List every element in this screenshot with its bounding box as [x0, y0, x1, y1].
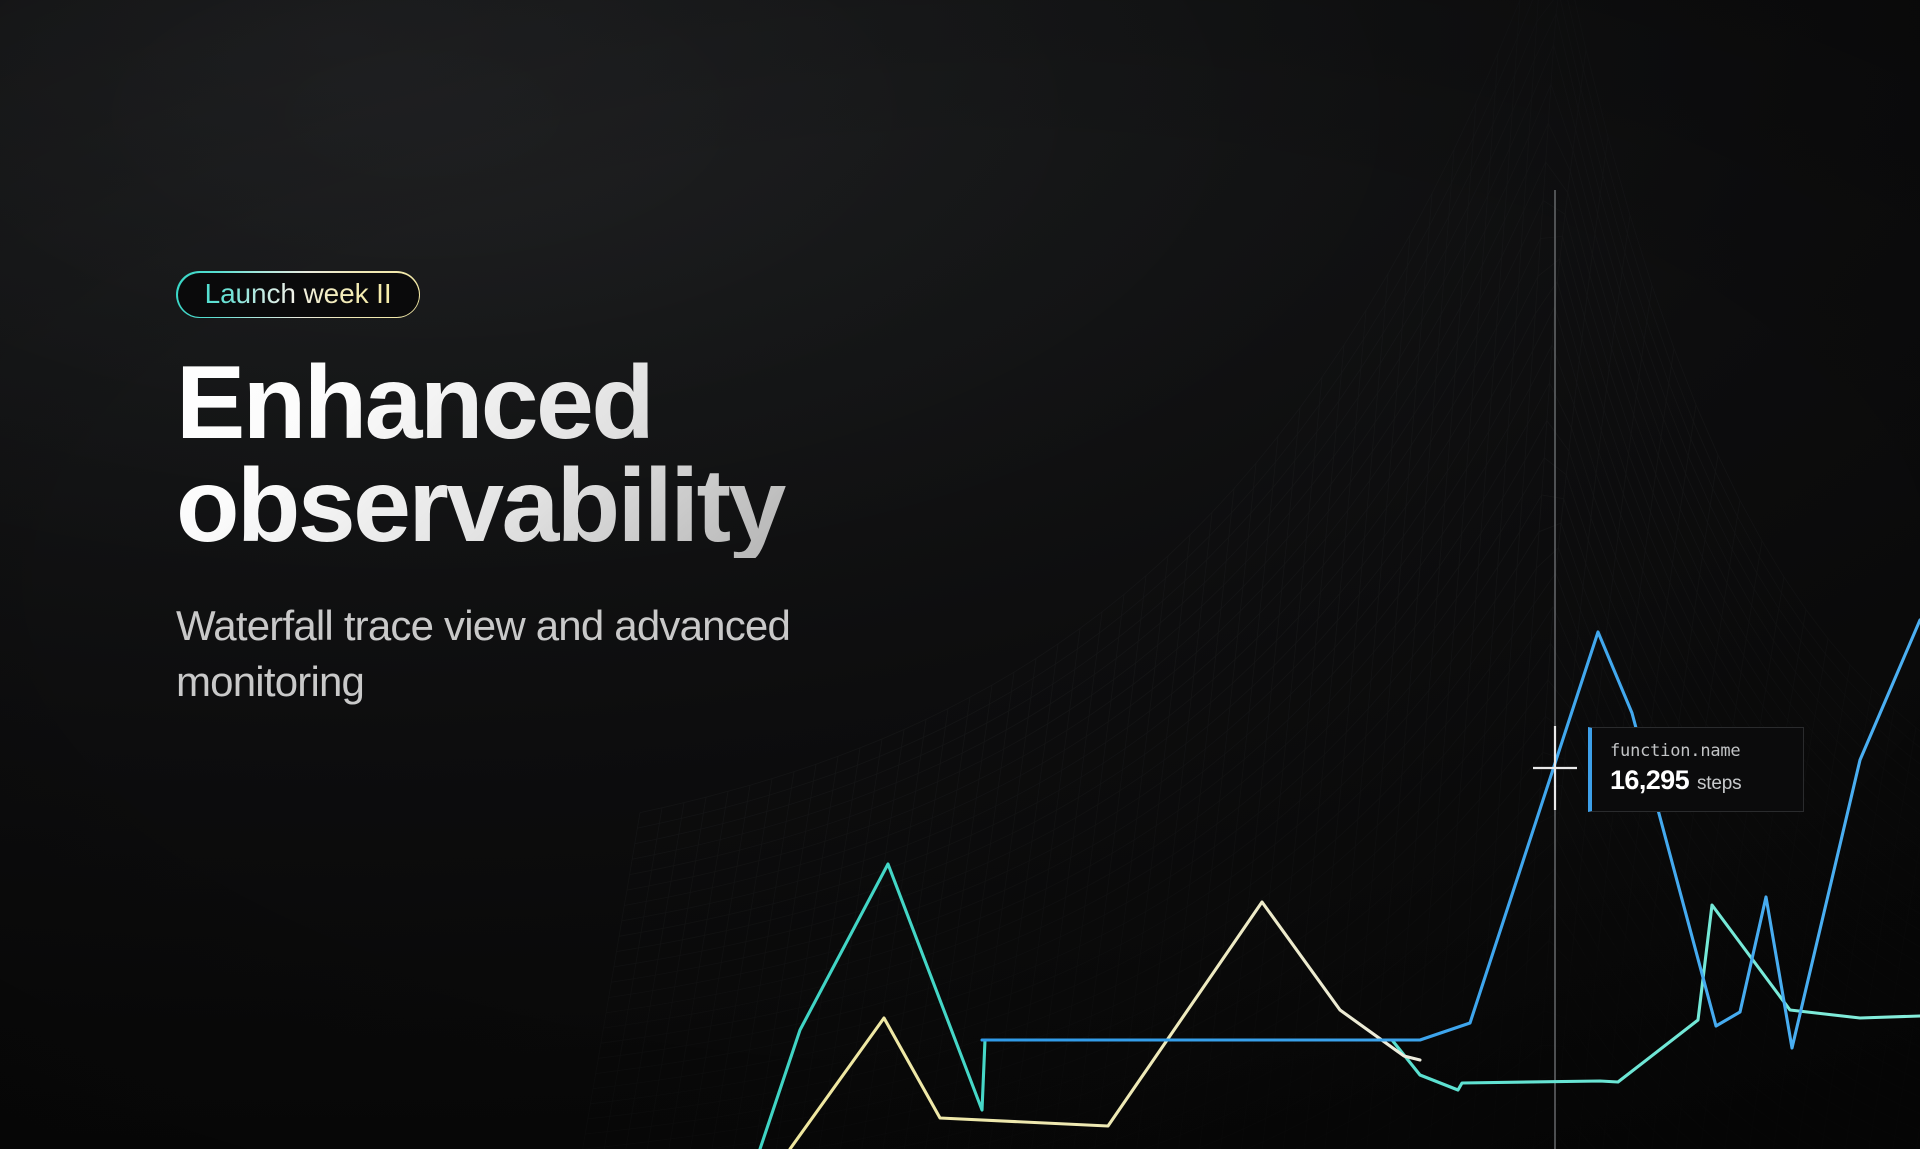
launch-week-badge-inner: Launch week II: [178, 273, 419, 317]
tooltip-value: 16,295: [1610, 765, 1689, 796]
mesh-gridline: [562, 905, 1920, 1149]
mesh-gridline: [583, 643, 1920, 1149]
mesh-gridline: [1092, 512, 1212, 1149]
mesh-gridline: [1488, 137, 1608, 1149]
mesh-gridline: [554, 1011, 1920, 1149]
mesh-gridline: [608, 791, 728, 1149]
mesh-gridline: [982, 612, 1102, 1149]
mesh-gridline: [1334, 150, 1454, 1149]
mesh-gridline: [894, 672, 1014, 1149]
tooltip-metric-row: 16,295 steps: [1610, 765, 1785, 796]
mesh-gridline: [1180, 408, 1300, 1149]
mesh-gridline: [1708, 639, 1828, 1149]
mesh-gridline: [696, 764, 816, 1149]
mesh-gridline: [850, 697, 970, 1149]
mesh-gridline: [1378, 53, 1498, 1149]
mesh-gridline: [1356, 103, 1476, 1149]
mesh-gridline: [520, 813, 640, 1149]
mesh-gridline: [557, 976, 1920, 1149]
mesh-gridline: [542, 808, 662, 1149]
mesh-gridline: [1686, 610, 1806, 1149]
mesh-gridline: [1312, 194, 1432, 1149]
mesh-gridline: [938, 644, 1058, 1149]
mesh-gridline: [1466, 50, 1586, 1149]
mesh-gridline: [551, 1045, 1920, 1149]
mesh-gridline: [544, 1134, 1920, 1149]
mesh-gridline: [1884, 785, 1920, 1149]
mesh-gridline: [630, 785, 750, 1149]
mesh-gridline: [1136, 463, 1256, 1149]
mesh-gridline: [652, 779, 772, 1149]
mesh-gridline: [806, 719, 926, 1149]
mesh-gridline: [1114, 489, 1234, 1149]
crosshair-marker: [1533, 726, 1577, 810]
mesh-gridline: [1158, 436, 1278, 1149]
mesh-gridline: [1224, 345, 1344, 1149]
mesh-gridline: [762, 739, 882, 1149]
mesh-gridline: [1796, 728, 1916, 1149]
mesh-gridline: [570, 812, 1920, 1149]
mesh-gridline: [1532, 286, 1652, 1149]
mesh-gridline: [1642, 541, 1762, 1149]
chart-line-blue: [982, 620, 1920, 1048]
launch-week-hero: Launch week II Enhanced observability Wa…: [0, 0, 1920, 1149]
mesh-gridline: [674, 772, 794, 1149]
mesh-gridline: [872, 685, 992, 1149]
mesh-gridline: [916, 659, 1036, 1149]
mesh-gridline: [1400, 0, 1520, 1149]
mesh-gridline: [1202, 377, 1322, 1149]
mesh-gridline: [1026, 576, 1146, 1149]
mesh-gridline: [559, 941, 1920, 1149]
mesh-gridline: [1510, 216, 1630, 1149]
mesh-gridline: [1004, 594, 1124, 1149]
mesh-gridline: [1444, 0, 1564, 1149]
mesh-gridline: [1620, 500, 1740, 1149]
launch-week-badge[interactable]: Launch week II: [176, 271, 420, 318]
mesh-gridline: [1246, 310, 1366, 1149]
mesh-gridline: [1906, 796, 1920, 1149]
chart-line-cream: [790, 902, 1420, 1149]
hero-content: Launch week II Enhanced observability Wa…: [176, 271, 996, 710]
tooltip-function-name: function.name: [1610, 741, 1785, 761]
mesh-gridline: [740, 748, 860, 1149]
mesh-gridline: [564, 803, 684, 1149]
mesh-gridline: [572, 786, 1920, 1149]
mesh-gridline: [1818, 745, 1920, 1149]
mesh-gridline: [1070, 535, 1190, 1149]
chart-line-teal: [760, 864, 1920, 1149]
mesh-gridline: [1290, 235, 1410, 1149]
mesh-gridline: [546, 1104, 1920, 1149]
tooltip-unit: steps: [1697, 773, 1741, 795]
mesh-gridline: [1664, 577, 1784, 1149]
mesh-gridline: [567, 839, 1920, 1149]
mesh-gridline: [828, 709, 948, 1149]
mesh-gridline: [586, 797, 706, 1149]
mesh-gridline: [1422, 0, 1542, 1149]
mesh-gridline: [1048, 556, 1168, 1149]
mesh-gridline: [549, 1075, 1920, 1149]
chart-tooltip[interactable]: function.name 16,295 steps: [1588, 727, 1804, 812]
mesh-gridline: [564, 869, 1920, 1149]
mesh-gridline: [1268, 274, 1388, 1149]
launch-week-badge-label: Launch week II: [205, 280, 392, 308]
mesh-gridline: [718, 756, 838, 1149]
page-title: Enhanced observability: [176, 352, 936, 558]
mesh-gridline: [1862, 773, 1920, 1149]
mesh-gridline: [784, 730, 904, 1149]
page-subtitle: Waterfall trace view and advanced monito…: [176, 598, 816, 710]
mesh-gridline: [1840, 760, 1920, 1149]
